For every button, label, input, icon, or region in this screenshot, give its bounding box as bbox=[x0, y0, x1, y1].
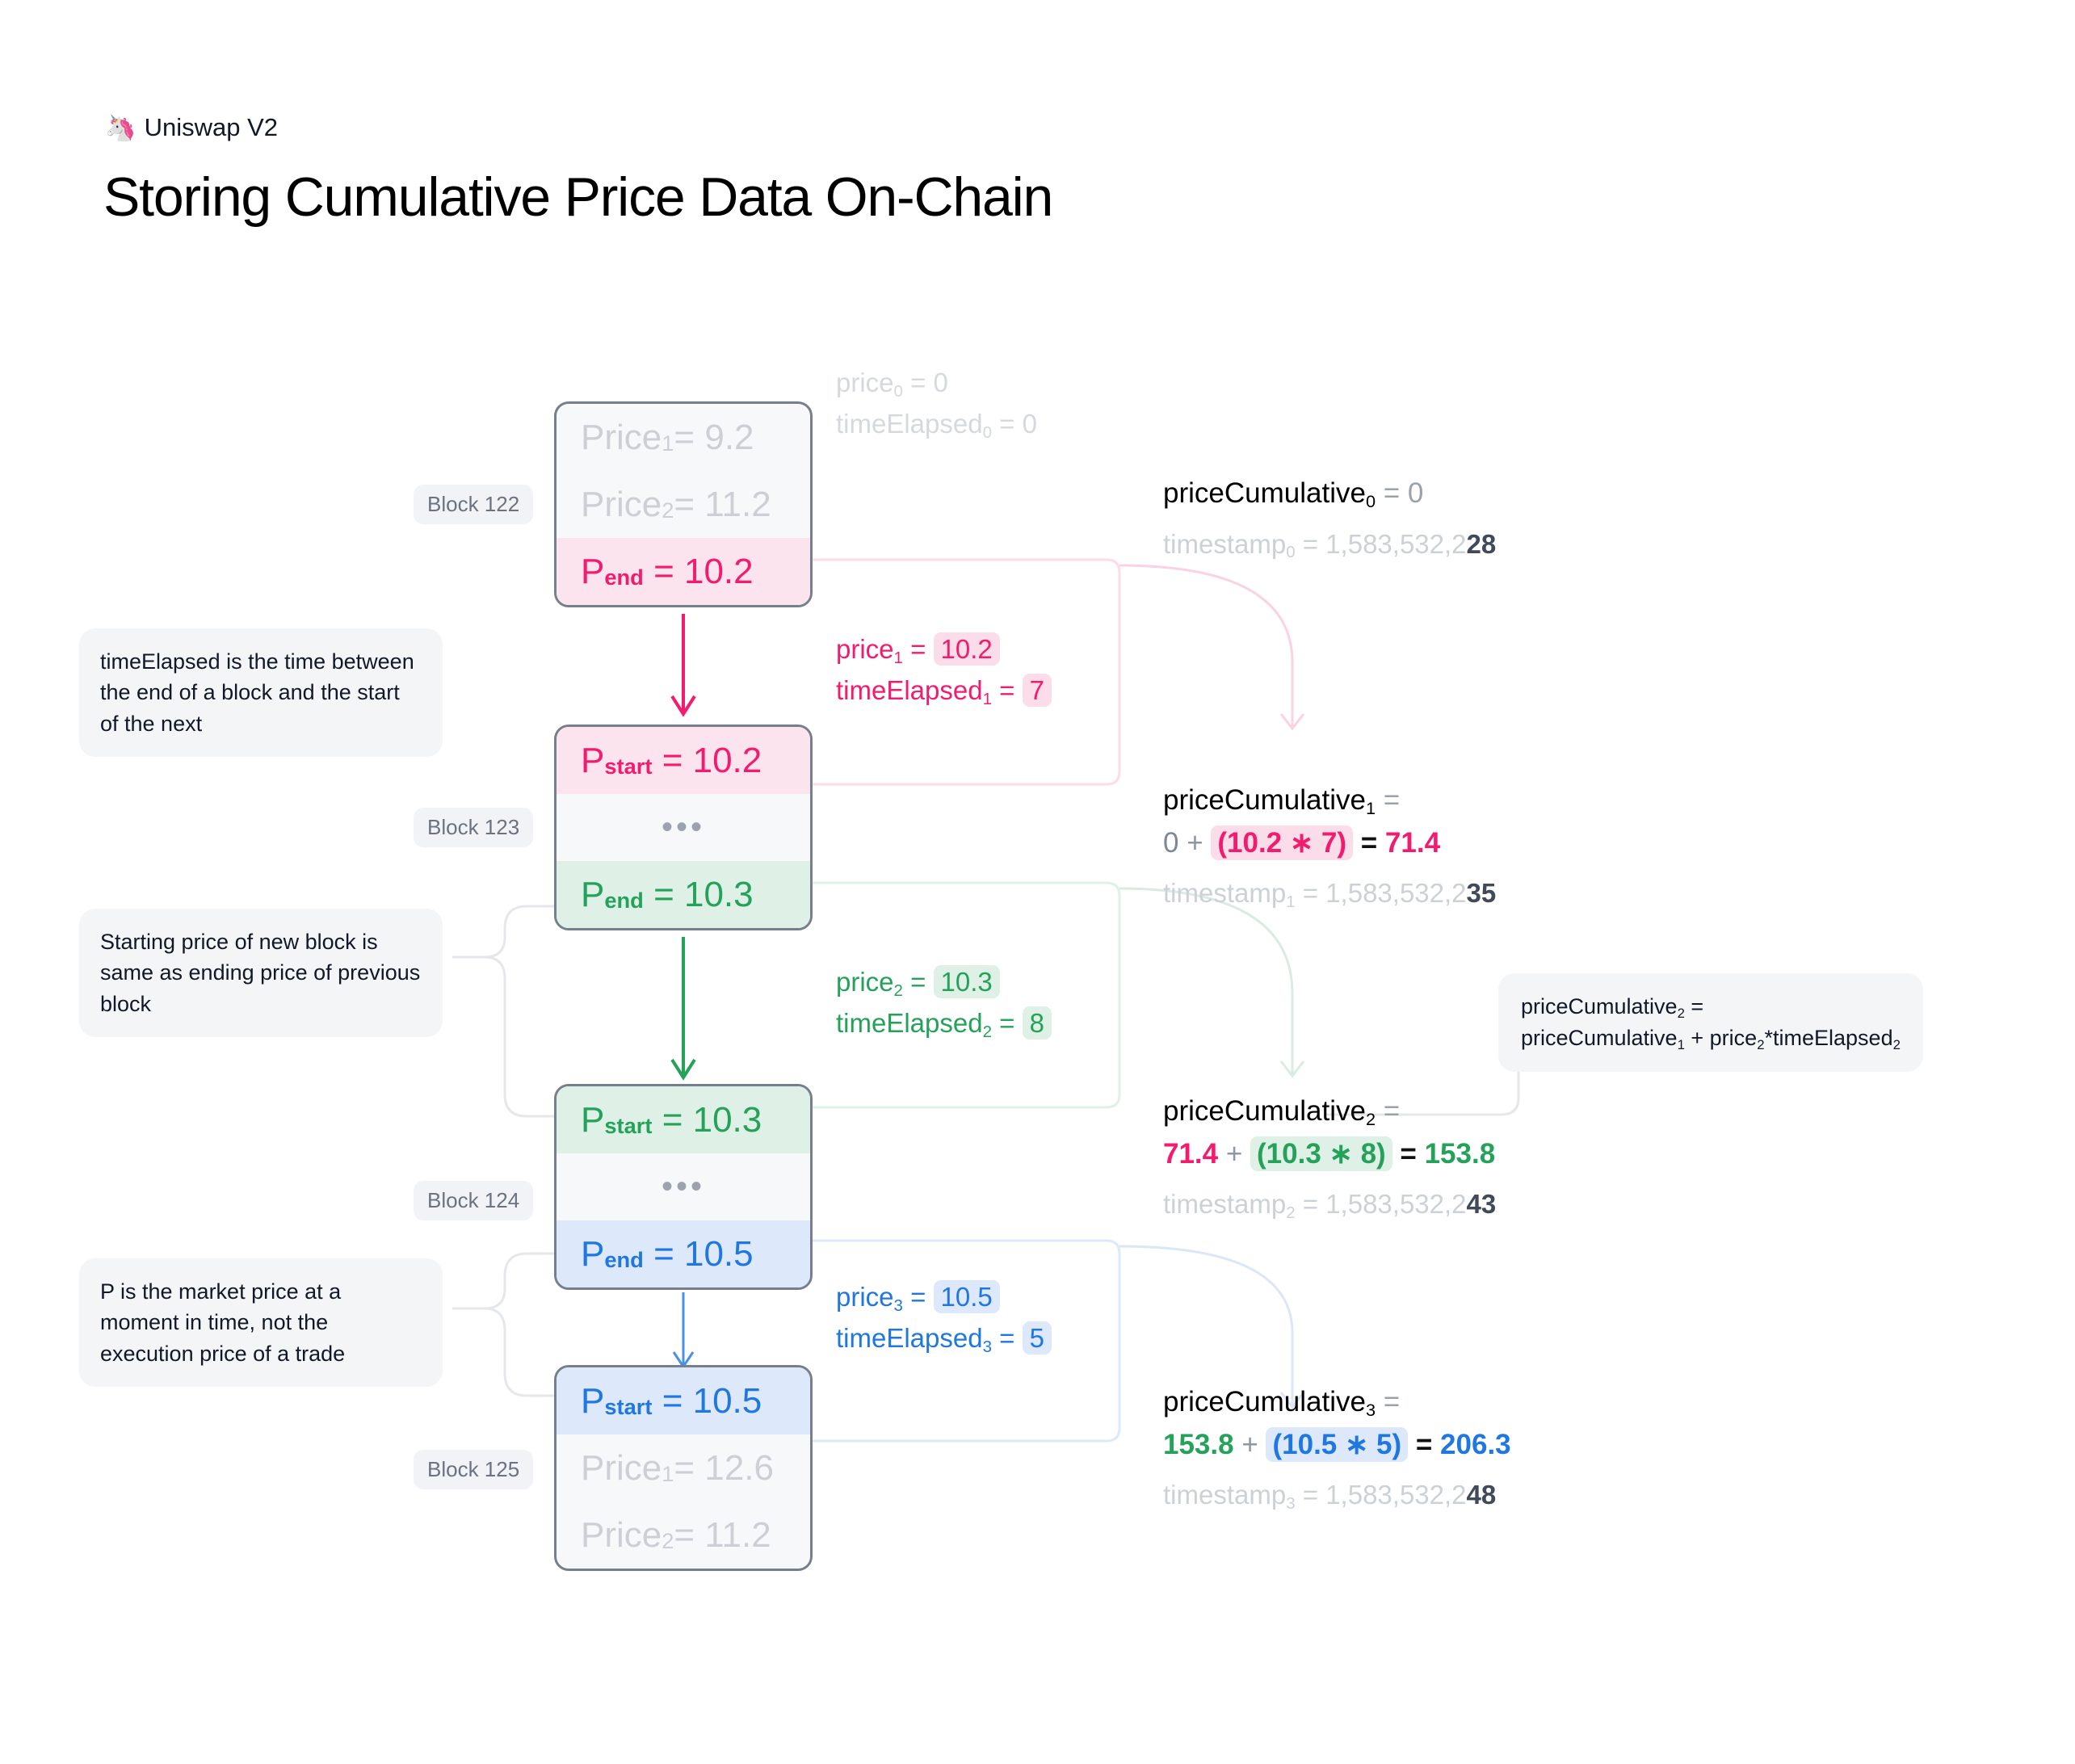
block-label: Block 125 bbox=[414, 1450, 533, 1489]
block-card-block-125: Pstart = 10.5Price1 = 12.6Price2 = 11.2 bbox=[554, 1365, 813, 1571]
ellipsis-row: ••• bbox=[557, 1153, 810, 1220]
p-end-row: Pend = 10.5 bbox=[557, 1220, 810, 1287]
pink-arrow-line bbox=[1119, 565, 1292, 727]
formula-note-line2: priceCumulative1 + price2*timeElapsed2 bbox=[1521, 1023, 1901, 1054]
price-cumulative-0: priceCumulative0 = 0timestamp0 = 1,583,5… bbox=[1163, 472, 1496, 573]
price-timeelapsed-label-0: price0 = 0timeElapsed0 = 0 bbox=[836, 362, 1037, 444]
brand-label: Uniswap V2 bbox=[145, 113, 278, 142]
price-timeelapsed-label-2: price2 = 10.3timeElapsed2 = 8 bbox=[836, 961, 1052, 1044]
note3-connector-bottom bbox=[485, 1308, 557, 1396]
note2-connector-bottom bbox=[485, 957, 557, 1116]
price-cumulative-3: priceCumulative3 =153.8 + (10.5 ∗ 5) = 2… bbox=[1163, 1381, 1511, 1525]
block-card-block-124: Pstart = 10.3•••Pend = 10.5 bbox=[554, 1084, 813, 1290]
cumulative-heading: priceCumulative0 = 0 bbox=[1163, 472, 1496, 515]
note-starting-price: Starting price of new block is same as e… bbox=[79, 909, 443, 1037]
price-cumulative-2: priceCumulative2 =71.4 + (10.3 ∗ 8) = 15… bbox=[1163, 1090, 1496, 1234]
note-timeelapsed: timeElapsed is the time between the end … bbox=[79, 628, 443, 757]
note3-connector-top bbox=[452, 1254, 557, 1308]
timestamp: timestamp3 = 1,583,532,248 bbox=[1163, 1466, 1511, 1525]
ghost-price-row: Price1 = 9.2 bbox=[557, 404, 810, 471]
brand: 🦄 Uniswap V2 bbox=[105, 113, 278, 142]
timeelapsed-line: timeElapsed0 = 0 bbox=[836, 403, 1037, 444]
price-timeelapsed-label-3: price3 = 10.5timeElapsed3 = 5 bbox=[836, 1276, 1052, 1359]
formula-note: priceCumulative2 = priceCumulative1 + pr… bbox=[1498, 973, 1923, 1072]
ghost-price-row: Price1 = 12.6 bbox=[557, 1434, 810, 1501]
p-start-row: Pstart = 10.2 bbox=[557, 727, 810, 794]
timeelapsed-line: timeElapsed3 = 5 bbox=[836, 1317, 1052, 1359]
price-line: price3 = 10.5 bbox=[836, 1276, 1052, 1317]
block-label: Block 122 bbox=[414, 485, 533, 524]
timestamp: timestamp1 = 1,583,532,235 bbox=[1163, 864, 1496, 923]
cumulative-heading: priceCumulative1 = bbox=[1163, 779, 1496, 822]
price-cumulative-1: priceCumulative1 =0 + (10.2 ∗ 7) = 71.4t… bbox=[1163, 779, 1496, 923]
timeelapsed-line: timeElapsed2 = 8 bbox=[836, 1002, 1052, 1044]
note2-connector-top bbox=[452, 906, 557, 957]
ellipsis-row: ••• bbox=[557, 794, 810, 861]
cumulative-formula: 71.4 + (10.3 ∗ 8) = 153.8 bbox=[1163, 1133, 1496, 1176]
price-line: price2 = 10.3 bbox=[836, 961, 1052, 1002]
p-start-row: Pstart = 10.5 bbox=[557, 1367, 810, 1434]
price-timeelapsed-label-1: price1 = 10.2timeElapsed1 = 7 bbox=[836, 628, 1052, 711]
p-start-row: Pstart = 10.3 bbox=[557, 1086, 810, 1153]
timestamp: timestamp2 = 1,583,532,243 bbox=[1163, 1175, 1496, 1234]
block-card-block-123: Pstart = 10.2•••Pend = 10.3 bbox=[554, 724, 813, 930]
cumulative-heading: priceCumulative2 = bbox=[1163, 1090, 1496, 1133]
note-text: Starting price of new block is same as e… bbox=[100, 930, 420, 1016]
note-text: timeElapsed is the time between the end … bbox=[100, 649, 414, 736]
price-line: price0 = 0 bbox=[836, 362, 1037, 403]
cumulative-heading: priceCumulative3 = bbox=[1163, 1381, 1511, 1424]
formula-note-line1: priceCumulative2 = bbox=[1521, 991, 1901, 1023]
note-market-price: P is the market price at a moment in tim… bbox=[79, 1258, 443, 1387]
cumulative-formula: 0 + (10.2 ∗ 7) = 71.4 bbox=[1163, 822, 1496, 865]
ghost-price-row: Price2 = 11.2 bbox=[557, 1501, 810, 1569]
ghost-price-row: Price2 = 11.2 bbox=[557, 471, 810, 538]
unicorn-icon: 🦄 bbox=[105, 115, 137, 141]
connector-layer bbox=[0, 0, 2075, 1764]
p-end-row: Pend = 10.2 bbox=[557, 538, 810, 605]
block-label: Block 123 bbox=[414, 808, 533, 847]
cumulative-formula: 153.8 + (10.5 ∗ 5) = 206.3 bbox=[1163, 1424, 1511, 1467]
p-end-row: Pend = 10.3 bbox=[557, 861, 810, 928]
price-line: price1 = 10.2 bbox=[836, 628, 1052, 670]
green-arrow-head bbox=[1281, 1061, 1304, 1076]
page-title: Storing Cumulative Price Data On-Chain bbox=[103, 166, 1052, 229]
block-card-block-122: Price1 = 9.2Price2 = 11.2Pend = 10.2 bbox=[554, 401, 813, 607]
pink-arrow-head bbox=[1281, 714, 1304, 729]
timestamp: timestamp0 = 1,583,532,228 bbox=[1163, 515, 1496, 574]
note-text: P is the market price at a moment in tim… bbox=[100, 1279, 345, 1366]
timeelapsed-line: timeElapsed1 = 7 bbox=[836, 670, 1052, 711]
block-label: Block 124 bbox=[414, 1181, 533, 1220]
